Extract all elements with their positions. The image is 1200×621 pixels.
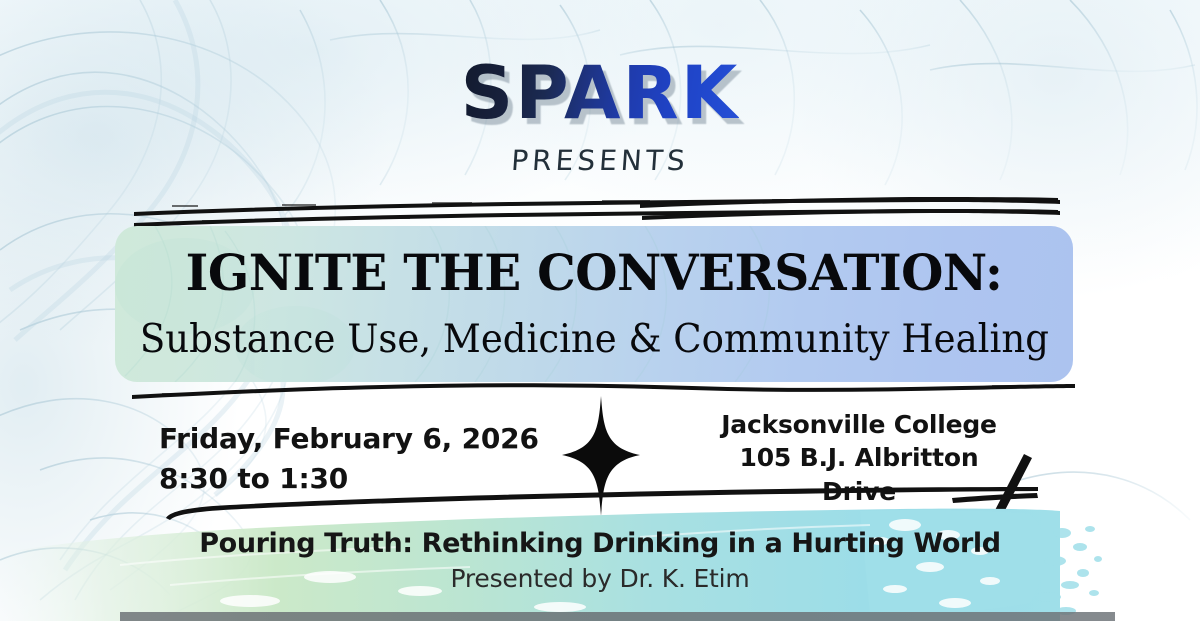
sparkle-icon	[562, 396, 640, 516]
spark-logo: SPARK SPARK	[0, 57, 1200, 130]
event-date: Friday, February 6, 2026	[159, 419, 539, 459]
venue-street: 105 B.J. Albritton Drive	[710, 441, 1008, 508]
talk-title: Pouring Truth: Rethinking Drinking in a …	[0, 528, 1200, 559]
banner-title-sub: Substance Use, Medicine & Community Heal…	[139, 320, 1048, 359]
spark-wordmark-fill: SPARK	[461, 51, 740, 136]
spark-wordmark: SPARK SPARK	[461, 57, 740, 130]
event-flyer: SPARK SPARK PRESENTS	[0, 0, 1200, 621]
title-banner: IGNITE THE CONVERSATION: Substance Use, …	[115, 226, 1073, 382]
talk-speaker: Presented by Dr. K. Etim	[0, 564, 1200, 593]
banner-title-main: IGNITE THE CONVERSATION:	[186, 248, 1003, 298]
bottom-bar	[120, 612, 1115, 621]
venue-name: Jacksonville College	[710, 408, 1008, 441]
event-time: 8:30 to 1:30	[159, 459, 539, 499]
event-date-time: Friday, February 6, 2026 8:30 to 1:30	[159, 419, 539, 499]
presents-label: PRESENTS	[0, 144, 1200, 177]
